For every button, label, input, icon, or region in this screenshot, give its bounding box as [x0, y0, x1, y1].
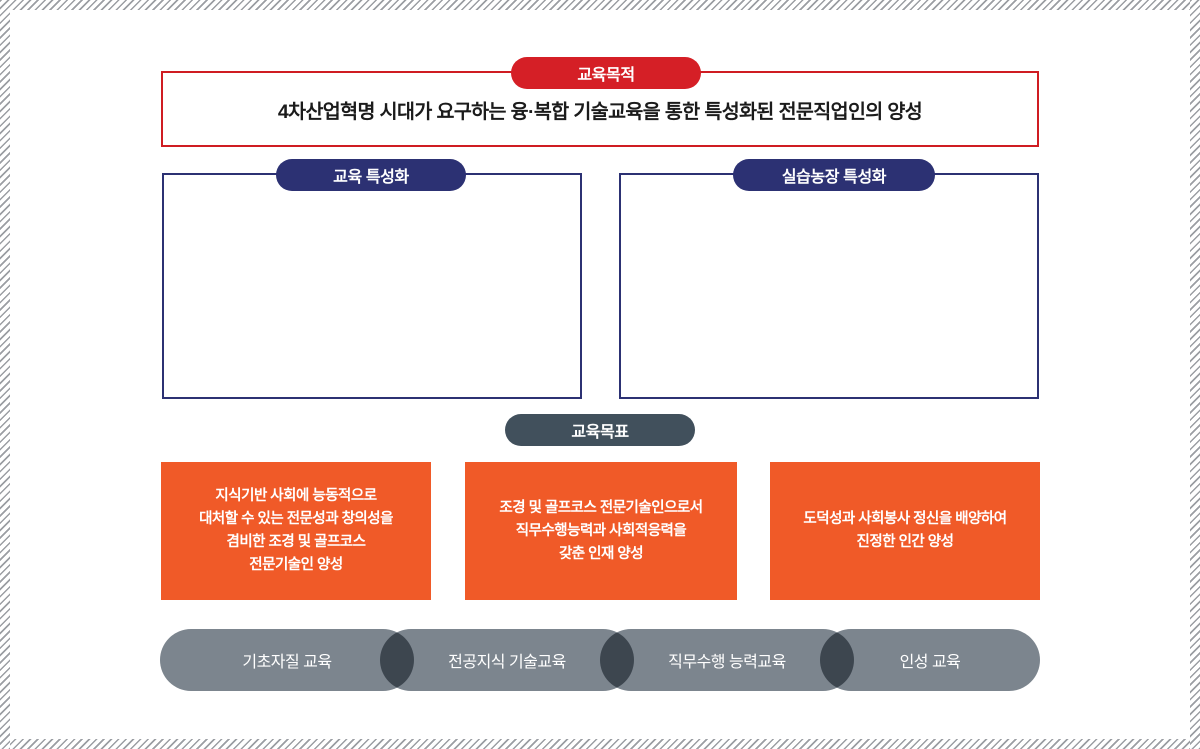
stage-pill: 인성 교육	[820, 629, 1040, 691]
education-goal-pill: 교육목표	[505, 414, 695, 446]
stage-label: 기초자질 교육	[242, 648, 331, 672]
education-goal-box: 도덕성과 사회봉사 정신을 배양하여 진정한 인간 양성	[770, 462, 1040, 600]
diagram-page: 4차산업혁명 시대가 요구하는 융·복합 기술교육을 통한 특성화된 전문직업인…	[0, 0, 1200, 749]
education-purpose-pill: 교육목적	[511, 57, 701, 89]
education-goal-text: 조경 및 골프코스 전문기술인으로서 직무수행능력과 사회적응력을 갖춘 인재 …	[499, 497, 702, 566]
frame-edge-bottom	[0, 739, 1200, 749]
education-goal-pill-label: 교육목표	[571, 418, 628, 442]
education-specialization-pill: 교육 특성화	[276, 159, 466, 191]
practice-farm-specialization-pill-label: 실습농장 특성화	[782, 163, 886, 187]
diagram-canvas: 4차산업혁명 시대가 요구하는 융·복합 기술교육을 통한 특성화된 전문직업인…	[10, 10, 1190, 739]
education-goal-text: 지식기반 사회에 능동적으로 대처할 수 있는 전문성과 창의성을 겸비한 조경…	[199, 485, 393, 577]
practice-farm-specialization-panel	[619, 173, 1039, 399]
stage-pill: 전공지식 기술교육	[380, 629, 634, 691]
stage-label: 전공지식 기술교육	[448, 648, 566, 672]
education-specialization-pill-label: 교육 특성화	[333, 163, 409, 187]
stage-label: 직무수행 능력교육	[668, 648, 786, 672]
education-purpose-pill-label: 교육목적	[577, 61, 634, 85]
education-stage-track: 기초자질 교육 전공지식 기술교육 직무수행 능력교육 인성 교육	[160, 629, 1040, 691]
education-specialization-panel	[162, 173, 582, 399]
education-goal-box: 조경 및 골프코스 전문기술인으로서 직무수행능력과 사회적응력을 갖춘 인재 …	[465, 462, 737, 600]
education-purpose-statement: 4차산업혁명 시대가 요구하는 융·복합 기술교육을 통한 특성화된 전문직업인…	[278, 95, 922, 124]
stage-pill: 기초자질 교육	[160, 629, 414, 691]
practice-farm-specialization-pill: 실습농장 특성화	[733, 159, 935, 191]
education-goal-text: 도덕성과 사회봉사 정신을 배양하여 진정한 인간 양성	[803, 508, 1006, 554]
stage-pill: 직무수행 능력교육	[600, 629, 854, 691]
frame-edge-top	[0, 0, 1200, 10]
education-goal-box: 지식기반 사회에 능동적으로 대처할 수 있는 전문성과 창의성을 겸비한 조경…	[161, 462, 431, 600]
frame-edge-left	[0, 0, 10, 749]
frame-edge-right	[1190, 0, 1200, 749]
stage-label: 인성 교육	[900, 648, 961, 672]
